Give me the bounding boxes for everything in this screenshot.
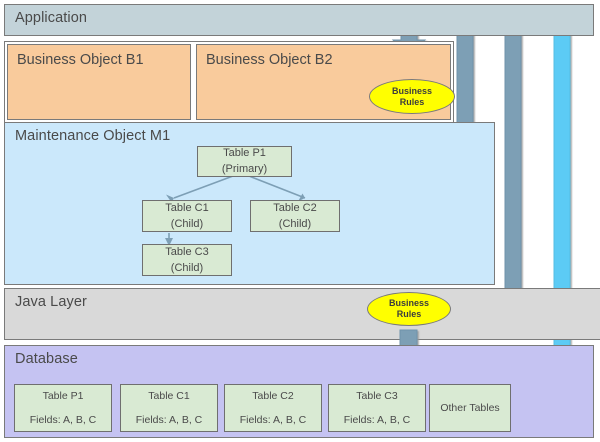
architecture-diagram: Application Business Object B1 Business … xyxy=(0,0,600,442)
db-table-c1-name: Table C1 xyxy=(148,389,189,403)
db-table-p1[interactable]: Table P1 Fields: A, B, C xyxy=(14,384,112,432)
db-table-p1-fields: Fields: A, B, C xyxy=(30,413,97,427)
db-table-c2-fields: Fields: A, B, C xyxy=(240,413,307,427)
database-layer: Database Table P1 Fields: A, B, C Table … xyxy=(4,345,594,438)
db-table-c3[interactable]: Table C3 Fields: A, B, C xyxy=(328,384,426,432)
business-rules-java-line1: Business xyxy=(389,298,429,309)
db-table-other-name: Other Tables xyxy=(440,401,499,415)
db-table-other[interactable]: Other Tables xyxy=(429,384,511,432)
db-table-c3-name: Table C3 xyxy=(356,389,397,403)
business-rules-java-line2: Rules xyxy=(397,309,422,320)
db-table-c1[interactable]: Table C1 Fields: A, B, C xyxy=(120,384,218,432)
db-table-c2[interactable]: Table C2 Fields: A, B, C xyxy=(224,384,322,432)
db-table-c2-name: Table C2 xyxy=(252,389,293,403)
database-title: Database xyxy=(15,351,78,367)
db-table-p1-name: Table P1 xyxy=(43,389,84,403)
db-table-c1-fields: Fields: A, B, C xyxy=(136,413,203,427)
db-table-c3-fields: Fields: A, B, C xyxy=(344,413,411,427)
business-rules-ellipse-java: Business Rules xyxy=(367,292,451,326)
